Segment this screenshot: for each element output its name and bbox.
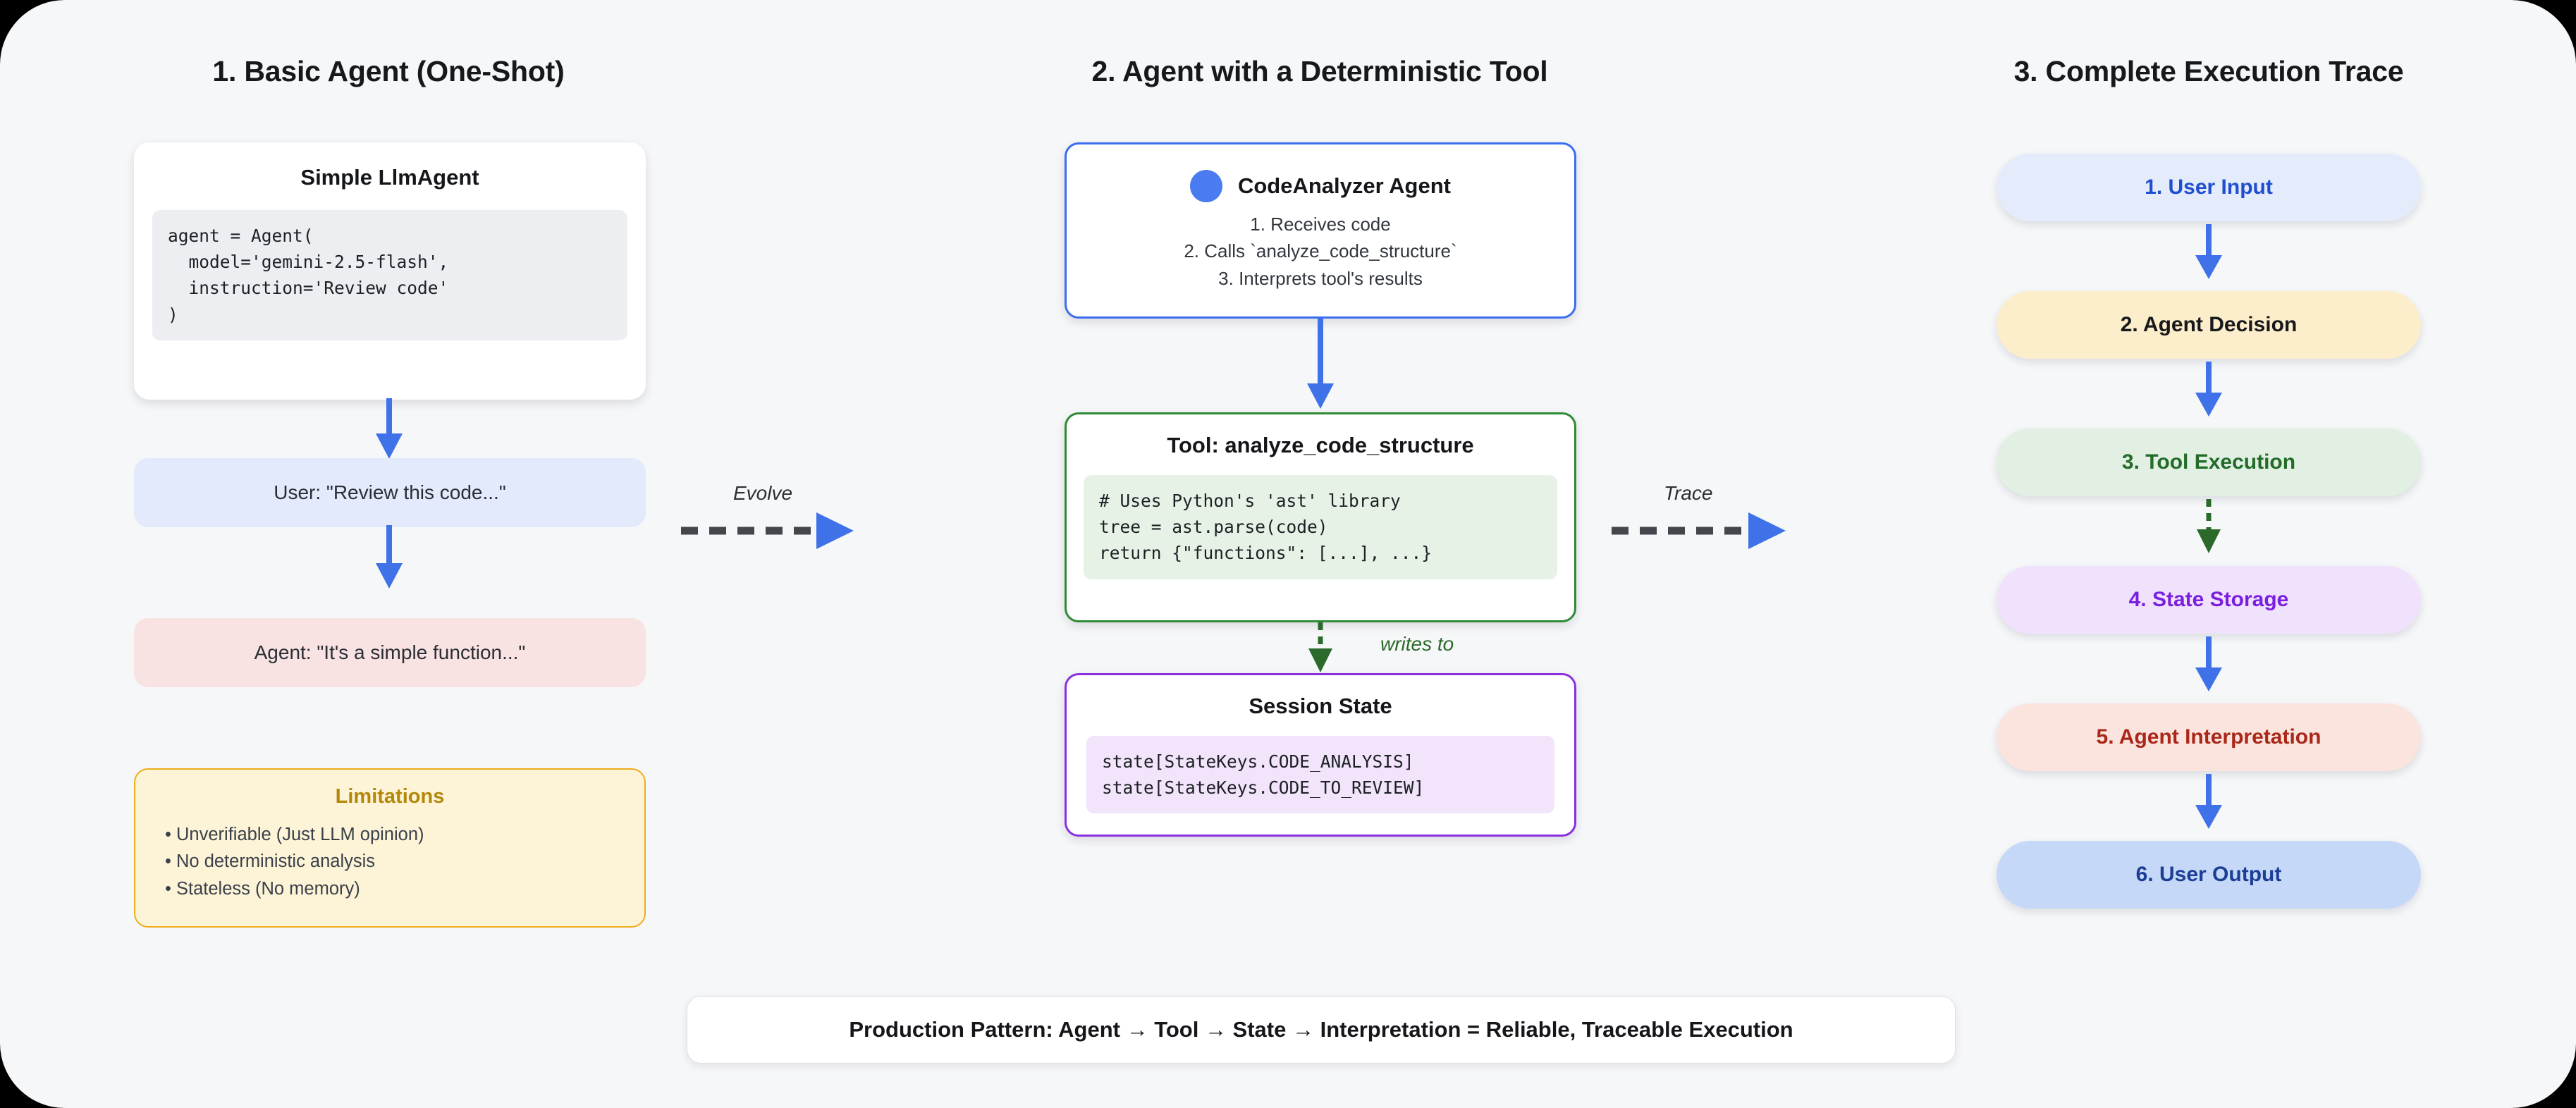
arrow-step3-to-step4 <box>2184 499 2233 557</box>
agent-message-box: Agent: "It's a simple function..." <box>134 618 646 687</box>
diagram-canvas: 1. Basic Agent (One-Shot) 2. Agent with … <box>0 0 2576 1108</box>
evolve-arrow <box>681 509 869 553</box>
code-analyzer-agent-card: CodeAnalyzer Agent 1. Receives code 2. C… <box>1065 142 1576 319</box>
trace-step-label: 2. Agent Decision <box>2121 313 2298 337</box>
arrow-step5-to-step6 <box>2184 774 2233 832</box>
production-pattern-text: Production Pattern: Agent → Tool → State… <box>849 1017 1793 1042</box>
evolve-label: Evolve <box>733 482 792 505</box>
arrow-user-to-agent-reply <box>364 525 414 592</box>
simple-llm-agent-title: Simple LlmAgent <box>134 165 646 190</box>
list-item: 2. Calls `analyze_code_structure` <box>1067 238 1574 264</box>
limitations-card: Limitations Unverifiable (Just LLM opini… <box>134 768 646 928</box>
trace-step-agent-interpretation: 5. Agent Interpretation <box>1997 703 2421 771</box>
trace-step-label: 1. User Input <box>2145 176 2273 199</box>
arrow-step4-to-step5 <box>2184 636 2233 694</box>
list-item: Unverifiable (Just LLM opinion) <box>165 821 644 848</box>
tool-card-title: Tool: analyze_code_structure <box>1067 433 1574 458</box>
session-state-code: state[StateKeys.CODE_ANALYSIS] state[Sta… <box>1086 736 1554 813</box>
trace-step-label: 3. Tool Execution <box>2122 450 2295 474</box>
tool-card-code: # Uses Python's 'ast' library tree = ast… <box>1084 475 1557 579</box>
list-item: 1. Receives code <box>1067 211 1574 238</box>
writes-to-label: writes to <box>1380 633 1454 655</box>
agent-message-text: Agent: "It's a simple function..." <box>254 641 526 664</box>
session-state-title: Session State <box>1067 694 1574 719</box>
trace-arrow <box>1612 509 1799 553</box>
trace-step-agent-decision: 2. Agent Decision <box>1997 291 2421 359</box>
arrow-tool-to-state <box>1296 622 1345 675</box>
trace-step-state-storage: 4. State Storage <box>1997 566 2421 634</box>
code-analyzer-steps: 1. Receives code 2. Calls `analyze_code_… <box>1067 211 1574 292</box>
arrow-step1-to-step2 <box>2184 224 2233 282</box>
trace-step-label: 6. User Output <box>2136 863 2282 887</box>
column-title-execution-trace: 3. Complete Execution Trace <box>2014 55 2404 88</box>
trace-step-tool-execution: 3. Tool Execution <box>1997 429 2421 496</box>
user-message-box: User: "Review this code..." <box>134 458 646 527</box>
tool-analyze-code-structure-card: Tool: analyze_code_structure # Uses Pyth… <box>1065 412 1576 622</box>
arrow-agent-to-tool <box>1296 319 1345 412</box>
production-pattern-banner: Production Pattern: Agent → Tool → State… <box>687 996 1956 1064</box>
list-item: No deterministic analysis <box>165 848 644 875</box>
code-analyzer-agent-title: CodeAnalyzer Agent <box>1238 173 1451 199</box>
arrow-step2-to-step3 <box>2184 362 2233 419</box>
trace-step-user-output: 6. User Output <box>1997 841 2421 909</box>
trace-label: Trace <box>1664 482 1713 505</box>
trace-step-label: 4. State Storage <box>2129 588 2289 612</box>
trace-step-label: 5. Agent Interpretation <box>2097 725 2322 749</box>
simple-llm-agent-card: Simple LlmAgent agent = Agent( model='ge… <box>134 142 646 400</box>
user-message-text: User: "Review this code..." <box>274 481 506 504</box>
list-item: Stateless (No memory) <box>165 875 644 902</box>
column-title-deterministic-tool: 2. Agent with a Deterministic Tool <box>1092 55 1548 88</box>
list-item: 3. Interprets tool's results <box>1067 265 1574 292</box>
arrow-agent-to-user <box>364 398 414 462</box>
blue-circle-icon <box>1190 170 1222 202</box>
limitations-title: Limitations <box>135 785 644 808</box>
trace-step-user-input: 1. User Input <box>1997 154 2421 221</box>
limitations-list: Unverifiable (Just LLM opinion) No deter… <box>135 821 644 902</box>
session-state-card: Session State state[StateKeys.CODE_ANALY… <box>1065 673 1576 837</box>
column-title-basic-agent: 1. Basic Agent (One-Shot) <box>212 55 564 88</box>
simple-llm-agent-code: agent = Agent( model='gemini-2.5-flash',… <box>152 210 627 340</box>
